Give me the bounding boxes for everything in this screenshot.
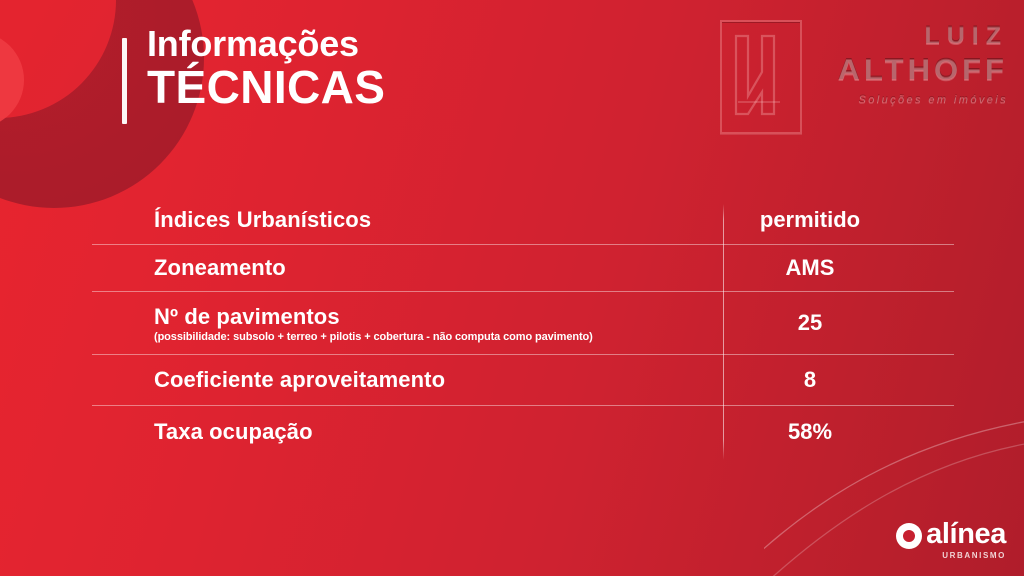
table-row-label-cell: Taxa ocupação (92, 419, 722, 445)
title-line-2: TÉCNICAS (147, 65, 385, 110)
table-row-value: 25 (798, 310, 822, 335)
table-header-row: Índices Urbanísticos permitido (92, 196, 954, 245)
alinea-logo: alínea URBANISMO (896, 520, 1006, 560)
table-row-value-cell: 58% (722, 419, 954, 445)
slide-canvas: Informações TÉCNICAS LUIZ ALTHOFF Soluçõ… (0, 0, 1024, 576)
table-row: Zoneamento AMS (92, 245, 954, 292)
la-word-althoff: ALTHOFF (818, 52, 1008, 88)
table-row-value: 58% (788, 419, 832, 444)
alinea-circle-icon (896, 523, 922, 549)
table-row-label-cell: Coeficiente aproveitamento (92, 367, 722, 393)
table-row-label: Zoneamento (154, 255, 722, 281)
title-line-1: Informações (147, 26, 385, 61)
decorative-circle-inner (0, 0, 116, 118)
alinea-wordmark: alínea (926, 520, 1006, 549)
table-row-label: Nº de pavimentos (154, 304, 722, 330)
table-row-value-cell: AMS (722, 255, 954, 281)
title-text: Informações TÉCNICAS (147, 26, 385, 110)
table-row-value: 8 (804, 367, 816, 392)
alinea-text: alínea URBANISMO (926, 520, 1006, 560)
table-row: Nº de pavimentos (possibilidade: subsolo… (92, 292, 954, 355)
table-row: Coeficiente aproveitamento 8 (92, 355, 954, 406)
table-row-label-cell: Nº de pavimentos (possibilidade: subsolo… (92, 304, 722, 343)
luiz-althoff-logo: LUIZ ALTHOFF Soluções em imóveis (720, 16, 1010, 138)
table-header-value-cell: permitido (722, 207, 954, 233)
table-row-label-cell: Zoneamento (92, 255, 722, 281)
table-row-value-cell: 25 (722, 310, 954, 336)
table-row-label: Taxa ocupação (154, 419, 722, 445)
la-wordmark: LUIZ ALTHOFF Soluções em imóveis (818, 22, 1008, 106)
la-monogram-icon (720, 20, 802, 134)
table-header-label: Índices Urbanísticos (154, 207, 722, 233)
table-row-sublabel: (possibilidade: subsolo + terreo + pilot… (154, 331, 722, 343)
table-header-label-cell: Índices Urbanísticos (92, 207, 722, 233)
table-row-value: AMS (786, 255, 835, 280)
alinea-subtitle: URBANISMO (926, 551, 1006, 560)
table-header-value: permitido (760, 207, 860, 232)
technical-data-table: Índices Urbanísticos permitido Zoneament… (92, 196, 954, 458)
table-row-value-cell: 8 (722, 367, 954, 393)
table-row: Taxa ocupação 58% (92, 406, 954, 458)
la-tagline: Soluções em imóveis (818, 94, 1008, 106)
decorative-circle-dot (0, 32, 24, 128)
title-accent-bar (122, 38, 127, 124)
la-word-luiz: LUIZ (818, 22, 1008, 51)
table-row-label: Coeficiente aproveitamento (154, 367, 722, 393)
